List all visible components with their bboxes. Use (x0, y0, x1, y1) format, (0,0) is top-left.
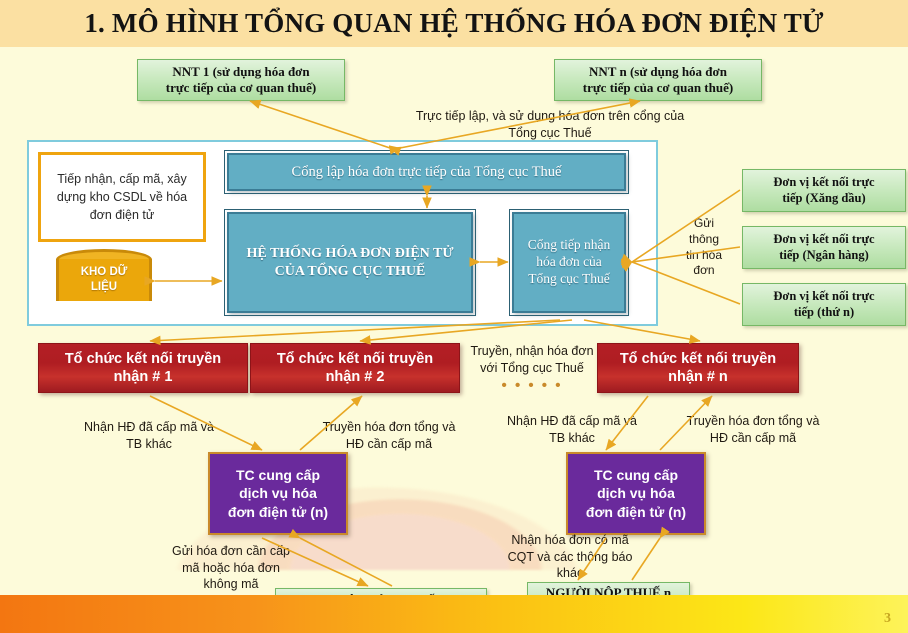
box-einvoice-service-provider-right[interactable]: TC cung cấp dịch vụ hóa đơn điện tử (n) (566, 452, 706, 535)
label-send-invoice-info: Gửi thông tin hóa đơn (676, 216, 732, 279)
box-gdt-receive-portal[interactable]: Cổng tiếp nhận hóa đơn của Tổng cục Thuế (512, 212, 626, 313)
box-gdt-invoice-portal-label: Cổng lập hóa đơn trực tiếp của Tổng cục … (292, 163, 562, 181)
box-nnt-n[interactable]: NNT n (sử dụng hóa đơn trực tiếp của cơ … (554, 59, 762, 101)
box-transmit-org-2-label: Tổ chức kết nối truyền nhận # 2 (277, 350, 433, 386)
box-direct-unit-nth[interactable]: Đơn vị kết nối trực tiếp (thứ n) (742, 283, 906, 326)
slide-title-bar: 1. MÔ HÌNH TỔNG QUAN HỆ THỐNG HÓA ĐƠN ĐI… (0, 0, 908, 47)
box-einvoice-service-provider-left[interactable]: TC cung cấp dịch vụ hóa đơn điện tử (n) (208, 452, 348, 535)
label-transmit-total-left: Truyền hóa đơn tổng và HĐ cần cấp mã (300, 419, 478, 452)
slide-canvas: 1. MÔ HÌNH TỔNG QUAN HỆ THỐNG HÓA ĐƠN ĐI… (0, 0, 908, 633)
label-direct-portal: Trực tiếp lập, và sử dụng hóa đơn trên c… (400, 108, 700, 141)
database-cylinder[interactable]: KHO DỮ LIỆU (56, 249, 152, 311)
label-receive-coded-right: Nhận HĐ đã cấp mã và TB khác (486, 413, 658, 446)
label-ellipsis-dots: • • • • • (462, 377, 602, 394)
box-direct-unit-bank[interactable]: Đơn vị kết nối trực tiếp (Ngân hàng) (742, 226, 906, 269)
box-einvoice-service-provider-right-label: TC cung cấp dịch vụ hóa đơn điện tử (n) (586, 466, 686, 521)
box-direct-unit-petrol[interactable]: Đơn vị kết nối trực tiếp (Xăng dầu) (742, 169, 906, 212)
box-transmit-org-n-label: Tổ chức kết nối truyền nhận # n (620, 350, 776, 386)
box-nnt-1-label: NNT 1 (sử dụng hóa đơn trực tiếp của cơ … (166, 64, 316, 96)
label-receive-cqt-code: Nhận hóa đơn có mã CQT và các thông báo … (484, 532, 656, 582)
box-transmit-org-n[interactable]: Tổ chức kết nối truyền nhận # n (597, 343, 799, 393)
box-transmit-org-1[interactable]: Tổ chức kết nối truyền nhận # 1 (38, 343, 248, 393)
box-direct-unit-bank-label: Đơn vị kết nối trực tiếp (Ngân hàng) (773, 232, 874, 263)
box-core-einvoice-system-label: HỆ THỐNG HÓA ĐƠN ĐIỆN TỬ CỦA TỔNG CỤC TH… (246, 245, 453, 280)
page-title: 1. MÔ HÌNH TỔNG QUAN HỆ THỐNG HÓA ĐƠN ĐI… (84, 8, 823, 39)
label-send-need-code: Gửi hóa đơn cần cấp mã hoặc hóa đơn khôn… (148, 543, 314, 593)
box-nnt-1[interactable]: NNT 1 (sử dụng hóa đơn trực tiếp của cơ … (137, 59, 345, 101)
slide-footer-bar (0, 595, 908, 633)
label-transmit-total-right: Truyền hóa đơn tổng và HĐ cần cấp mã (664, 413, 842, 446)
label-receive-coded-left: Nhận HĐ đã cấp mã và TB khác (60, 419, 238, 452)
box-system-functions[interactable]: Tiếp nhận, cấp mã, xây dựng kho CSDL về … (38, 152, 206, 242)
box-transmit-org-2[interactable]: Tổ chức kết nối truyền nhận # 2 (250, 343, 460, 393)
box-transmit-org-1-label: Tổ chức kết nối truyền nhận # 1 (65, 350, 221, 386)
box-direct-unit-petrol-label: Đơn vị kết nối trực tiếp (Xăng dầu) (773, 175, 874, 206)
box-direct-unit-nth-label: Đơn vị kết nối trực tiếp (thứ n) (773, 289, 874, 320)
box-core-einvoice-system[interactable]: HỆ THỐNG HÓA ĐƠN ĐIỆN TỬ CỦA TỔNG CỤC TH… (227, 212, 473, 313)
box-einvoice-service-provider-left-label: TC cung cấp dịch vụ hóa đơn điện tử (n) (228, 466, 328, 521)
box-gdt-receive-portal-label: Cổng tiếp nhận hóa đơn của Tổng cục Thuế (528, 237, 611, 288)
box-system-functions-label: Tiếp nhận, cấp mã, xây dựng kho CSDL về … (57, 170, 187, 224)
label-transmit-receive-gdt: Truyền, nhận hóa đơn với Tổng cục Thuế (462, 343, 602, 376)
page-number: 3 (884, 611, 891, 627)
box-gdt-invoice-portal[interactable]: Cổng lập hóa đơn trực tiếp của Tổng cục … (227, 153, 626, 191)
box-nnt-n-label: NNT n (sử dụng hóa đơn trực tiếp của cơ … (583, 64, 733, 96)
database-label: KHO DỮ LIỆU (56, 249, 152, 311)
